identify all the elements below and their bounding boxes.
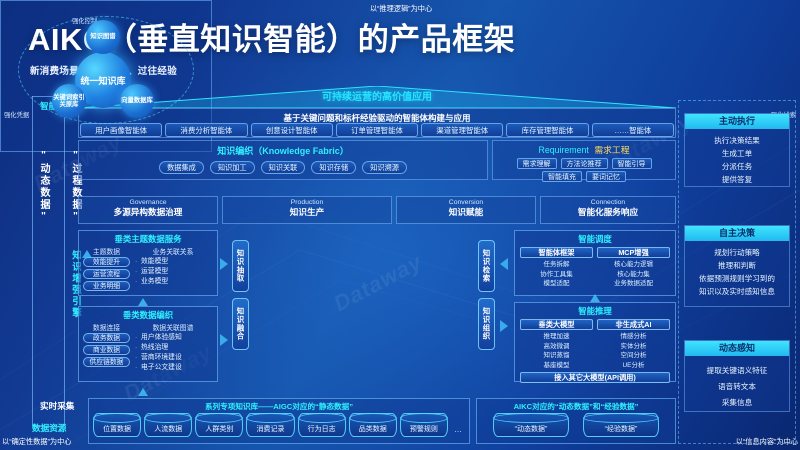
- requirement-item[interactable]: 方法论推荐: [561, 158, 608, 169]
- arrow-right-icon: [220, 258, 228, 270]
- panel-item: 实体分析: [597, 342, 670, 352]
- panel-item: 任务拆解: [520, 260, 593, 270]
- panel-title: 智能调度: [515, 231, 675, 245]
- requirement-title: Requirement 需求工程: [493, 141, 675, 156]
- requirement-item[interactable]: 要词记忆: [586, 171, 626, 182]
- cylinder-row: “动态数据” “经验数据”: [477, 412, 675, 437]
- watermark: Dataway: [330, 249, 427, 317]
- section-header: AIKC对应的“动态数据”和“经验数据”: [477, 399, 675, 412]
- panel-tag[interactable]: 智能体框架: [520, 247, 593, 258]
- panel-dynamic-perception: 动态感知 提取关键语义特征 语音转文本 采集信息: [684, 340, 790, 412]
- panel-active-execution: 主动执行 执行决策结果 生成工单 分派任务 提供答复: [684, 113, 790, 187]
- panel-item: 基座模型: [520, 361, 593, 371]
- tab-knowledge-fusion[interactable]: 知识融合: [232, 298, 249, 350]
- static-data-section: 系列专项知识库——AIGC对应的“静态数据” 位置数据 人流数据 人群类别 消费…: [88, 398, 470, 444]
- data-cylinder[interactable]: 品类数据: [349, 413, 397, 437]
- data-cylinder[interactable]: 消费记录: [246, 413, 294, 437]
- panel-tag[interactable]: 垂类大模型: [520, 319, 593, 330]
- panel-tag[interactable]: 非生成式AI: [597, 319, 670, 330]
- panel-title: 智能推理: [515, 303, 675, 317]
- external-model-api[interactable]: 接入其它大模型(API调用): [520, 372, 670, 383]
- panel-title: 自主决策: [685, 226, 789, 241]
- requirement-item[interactable]: 需求理解: [517, 158, 557, 169]
- fabric-item[interactable]: 知识溯源: [362, 161, 407, 174]
- data-cylinder[interactable]: 人流数据: [144, 413, 192, 437]
- panel-item: 提取关键语义特征: [685, 363, 789, 379]
- fabric-item[interactable]: 知识存储: [311, 161, 356, 174]
- rail-divider-outer: [32, 96, 33, 426]
- data-cylinder[interactable]: 预警规则: [400, 413, 448, 437]
- panel-item: 知识蒸馏: [520, 351, 593, 361]
- agent-chip[interactable]: 订单管理智能体: [336, 123, 418, 137]
- panel-autonomous-decision: 自主决策 规划行动策略 推理和判断 依据预测规则学习到的 知识以及实时感知信息: [684, 225, 790, 307]
- cylinder-ellipsis: …: [451, 413, 465, 437]
- vertical-theme-data-panel: 垂类主题数据服务 主题数据 效能提升 运营流程 业务明细 业务关联关系 效能模型…: [78, 230, 218, 296]
- arrow-up-icon: [590, 294, 600, 302]
- panel-tag[interactable]: 商业数据: [83, 345, 130, 355]
- requirement-item[interactable]: 智能引导: [612, 158, 652, 169]
- fabric-item[interactable]: 知识关联: [261, 161, 306, 174]
- panel-item: 推理和判断: [685, 259, 789, 272]
- rail-label-dynamic-data: "动态数据": [36, 150, 51, 224]
- panel-item: 高效微调: [520, 342, 593, 352]
- vertical-data-fabric-panel: 垂类数据编织 数据连接 政务数据 商业数据 供应链数据 数据关联图谱 用户体验感…: [78, 306, 218, 382]
- panel-item: 业务模型: [133, 277, 213, 287]
- tab-knowledge-retrieval[interactable]: 知识检索: [478, 240, 495, 292]
- panel-item: 运营模型: [133, 267, 213, 277]
- panel-item: 采集信息: [685, 395, 789, 411]
- tab-knowledge-organization[interactable]: 知识组织: [478, 298, 495, 350]
- panel-columns: 垂类大模型 推理加速 高效微调 知识蒸馏 基座模型 非生成式AI 情感分析 实体…: [515, 317, 675, 370]
- panel-item: 热线治理: [133, 343, 213, 353]
- requirement-item[interactable]: 智能填充: [542, 171, 582, 182]
- app-layer-header: 基于关键问题和标杆经验驱动的智能体构建与应用: [79, 109, 675, 124]
- panel-item: 执行决策结果: [685, 134, 789, 147]
- panel-item: 协作工具集: [520, 270, 593, 280]
- center-top-label: 以“推理逻辑”为中心: [1, 4, 800, 14]
- agent-chip[interactable]: 创意设计智能体: [251, 123, 333, 137]
- panel-col-2: 业务关联关系 效能模型 运营模型 业务模型: [133, 246, 213, 293]
- col-header: 数据连接: [83, 322, 130, 332]
- panel-tag[interactable]: 运营流程: [83, 269, 130, 279]
- panel-item: 规划行动策略: [685, 246, 789, 259]
- knowledge-fabric-panel: 知识编织（Knowledge Fabric） 数据集成 知识加工 知识关联 知识…: [78, 140, 488, 180]
- rail-label-realtime: 实时采集: [40, 400, 74, 412]
- bubble-keyword-index[interactable]: 关键词索引关原库: [52, 84, 86, 118]
- agent-chip[interactable]: 渠道管理智能体: [421, 123, 503, 137]
- cylinder-label: 行为日志: [308, 424, 336, 434]
- bubble-vector-db[interactable]: 向量数据库: [120, 84, 154, 118]
- panel-col-1: 垂类大模型 推理加速 高效微调 知识蒸馏 基座模型: [520, 319, 593, 370]
- data-cylinder[interactable]: 行为日志: [298, 413, 346, 437]
- rail-label-data-source: 数据资源: [32, 422, 66, 434]
- panel-item: 电子公文建设: [133, 363, 213, 373]
- rail-divider-inner: [64, 96, 65, 426]
- arrow-up-icon: [138, 298, 148, 306]
- category-cn: 知识生产: [223, 207, 391, 218]
- requirement-panel: Requirement 需求工程 需求理解 方法论推荐 智能引导 智能填充 要词…: [492, 140, 676, 180]
- agent-chip-row: 用户画像智能体 消费分析智能体 创意设计智能体 订单管理智能体 渠道管理智能体 …: [80, 123, 674, 137]
- data-cylinder[interactable]: “动态数据”: [493, 413, 569, 437]
- panel-item: 知识以及实时感知信息: [685, 285, 789, 298]
- category-conversion: Conversion 知识赋能: [396, 196, 536, 224]
- panel-title: 垂类数据编织: [79, 307, 217, 321]
- agent-chip[interactable]: 库存管理智能体: [506, 123, 588, 137]
- panel-tag[interactable]: 供应链数据: [83, 357, 130, 367]
- arrow-right-icon: [220, 334, 228, 346]
- category-cn: 知识赋能: [397, 207, 535, 218]
- panel-columns: 数据连接 政务数据 商业数据 供应链数据 数据关联图谱 用户体验感知 热线治理 …: [79, 321, 217, 373]
- cylinder-label: “动态数据”: [515, 424, 548, 434]
- intelligent-reasoning-panel: 智能推理 垂类大模型 推理加速 高效微调 知识蒸馏 基座模型 非生成式AI 情感…: [514, 302, 676, 382]
- panel-item: UE分析: [597, 361, 670, 371]
- panel-item: 营商环境建设: [133, 353, 213, 363]
- arrow-up-icon: [138, 388, 148, 396]
- section-header: 系列专项知识库——AIGC对应的“静态数据”: [89, 399, 469, 412]
- panel-item: 核心能力逻辑: [597, 260, 670, 270]
- requirement-title-cn: 需求工程: [591, 145, 629, 155]
- tab-knowledge-extraction[interactable]: 知识抽取: [232, 240, 249, 292]
- intelligent-scheduling-panel: 智能调度 智能体框架 任务拆解 协作工具集 模型适配 MCP增强 核心能力逻辑 …: [514, 230, 676, 296]
- panel-tag[interactable]: MCP增强: [597, 247, 670, 258]
- panel-item: 推理加速: [520, 332, 593, 342]
- panel-columns: 主题数据 效能提升 运营流程 业务明细 业务关联关系 效能模型 运营模型 业务模…: [79, 245, 217, 293]
- data-cylinder[interactable]: 人群类别: [195, 413, 243, 437]
- center-bottom-left: 以“确定性数据”为中心: [2, 437, 71, 447]
- panel-col-2: MCP增强 核心能力逻辑 核心能力集 业务数据适配: [597, 247, 670, 289]
- panel-item: 情感分析: [597, 332, 670, 342]
- panel-tag[interactable]: 政务数据: [83, 333, 130, 343]
- requirement-row-2: 智能填充 要词记忆: [493, 171, 675, 182]
- panel-item: 语音转文本: [685, 379, 789, 395]
- arrow-left-icon: [500, 258, 508, 270]
- cylinder-label: “经验数据”: [605, 424, 638, 434]
- cylinder-label: 人群类别: [205, 424, 233, 434]
- center-left-note: 强化凭据: [4, 110, 29, 119]
- panel-item: 业务数据适配: [597, 279, 670, 289]
- fabric-item-row: 数据集成 知识加工 知识关联 知识存储 知识溯源: [79, 161, 487, 174]
- dynamic-data-section: AIKC对应的“动态数据”和“经验数据” “动态数据” “经验数据”: [476, 398, 676, 444]
- category-governance: Governance 多源异构数据治理: [78, 196, 218, 224]
- panel-col-2: 数据关联图谱 用户体验感知 热线治理 营商环境建设 电子公文建设: [133, 322, 213, 373]
- category-connection: Connection 智能化服务响应: [540, 196, 676, 224]
- cylinder-label: 人流数据: [154, 424, 182, 434]
- data-cylinder[interactable]: “经验数据”: [583, 413, 659, 437]
- panel-item: 提供答复: [685, 173, 789, 186]
- panel-item: 生成工单: [685, 147, 789, 160]
- cylinder-label: 品类数据: [359, 424, 387, 434]
- agent-chip[interactable]: 用户画像智能体: [80, 123, 162, 137]
- arrow-right-icon: [500, 320, 508, 332]
- panel-col-1: 智能体框架 任务拆解 协作工具集 模型适配: [520, 247, 593, 289]
- category-cn: 多源异构数据治理: [79, 207, 217, 218]
- panel-tag[interactable]: 效能提升: [83, 257, 130, 267]
- category-production: Production 知识生产: [222, 196, 392, 224]
- panel-item: 依据预测规则学习到的: [685, 272, 789, 285]
- panel-item: 模型适配: [520, 279, 593, 289]
- fabric-item[interactable]: 数据集成: [159, 161, 204, 174]
- panel-item: 核心能力集: [597, 270, 670, 280]
- panel-item: 分派任务: [685, 160, 789, 173]
- fabric-item[interactable]: 知识加工: [210, 161, 255, 174]
- panel-item: 用户体验感知: [133, 333, 213, 343]
- requirement-title-en: Requirement: [538, 145, 588, 155]
- fabric-title: 知识编织（Knowledge Fabric）: [79, 141, 487, 157]
- col-header: 数据关联图谱: [133, 322, 213, 332]
- cylinder-row: 位置数据 人流数据 人群类别 消费记录 行为日志 品类数据 预警规则 …: [89, 412, 469, 437]
- panel-col-1: 数据连接 政务数据 商业数据 供应链数据: [83, 322, 130, 373]
- category-cn: 智能化服务响应: [541, 207, 675, 218]
- cylinder-label: 预警规则: [410, 424, 438, 434]
- data-cylinder[interactable]: 位置数据: [93, 413, 141, 437]
- panel-tag[interactable]: 业务明细: [83, 281, 130, 291]
- requirement-row-1: 需求理解 方法论推荐 智能引导: [493, 158, 675, 169]
- panel-columns: 智能体框架 任务拆解 协作工具集 模型适配 MCP增强 核心能力逻辑 核心能力集…: [515, 245, 675, 289]
- col-header: 业务关联关系: [133, 246, 213, 256]
- panel-title: 主动执行: [685, 114, 789, 129]
- panel-item: 空间分析: [597, 351, 670, 361]
- panel-title: 垂类主题数据服务: [79, 231, 217, 245]
- agent-chip[interactable]: ……智能体: [592, 123, 674, 137]
- panel-title: 动态感知: [685, 341, 789, 356]
- agent-chip[interactable]: 消费分析智能体: [165, 123, 247, 137]
- panel-item: 效能模型: [133, 257, 213, 267]
- cylinder-label: 消费记录: [256, 424, 284, 434]
- bubble-knowledge-graph[interactable]: 知识图谱: [86, 20, 120, 54]
- cylinder-label: 位置数据: [103, 424, 131, 434]
- arrow-up-icon: [82, 250, 92, 258]
- panel-col-2: 非生成式AI 情感分析 实体分析 空间分析 UE分析: [597, 319, 670, 370]
